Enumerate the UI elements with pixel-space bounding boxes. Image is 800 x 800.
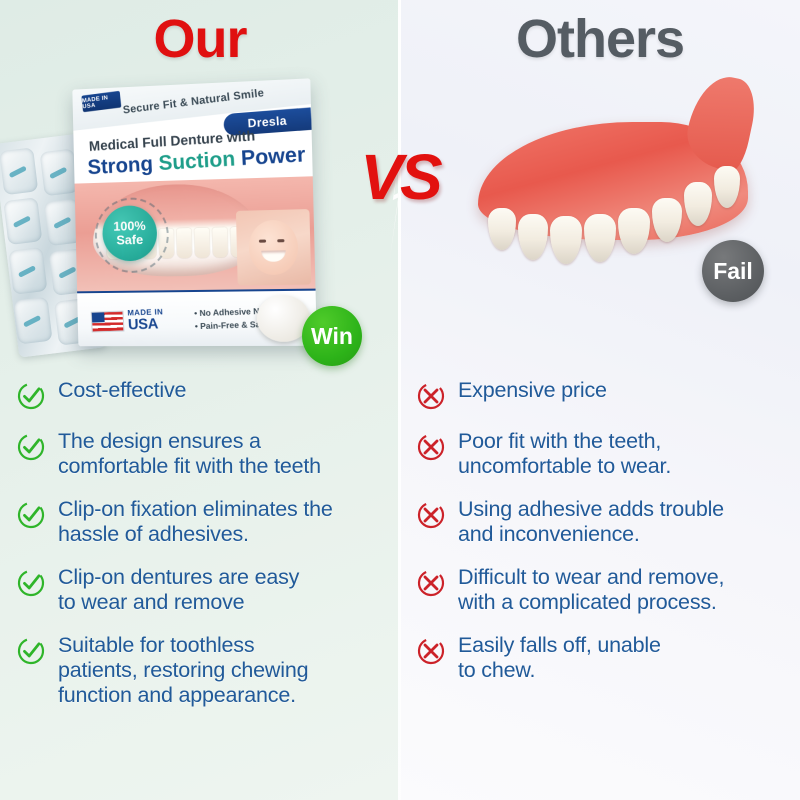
- x-circle-icon: [416, 568, 446, 598]
- list-item: Clip-on fixation eliminates the hassle o…: [0, 497, 400, 547]
- list-item: Easily falls off, unable to chew.: [400, 633, 800, 683]
- us-flag-icon: [91, 311, 125, 333]
- list-item: Expensive price: [400, 378, 800, 411]
- list-item-label: Expensive price: [458, 378, 607, 403]
- list-item-label: Clip-on fixation eliminates the hassle o…: [58, 497, 333, 547]
- competitor-denture-image: [478, 122, 748, 272]
- x-circle-icon: [416, 636, 446, 666]
- list-item-label: Poor fit with the teeth, uncomfortable t…: [458, 429, 671, 479]
- list-item: Suitable for toothless patients, restori…: [0, 633, 400, 708]
- check-circle-icon: [16, 500, 46, 530]
- list-item: The design ensures a comfortable fit wit…: [0, 429, 400, 479]
- list-item-label: Cost-effective: [58, 378, 186, 403]
- panel-divider: [398, 0, 401, 800]
- product-hero-others: [400, 60, 800, 370]
- vs-label: VS: [345, 145, 455, 209]
- list-item-label: Difficult to wear and remove, with a com…: [458, 565, 724, 615]
- face-shape: [248, 220, 298, 276]
- list-item: Poor fit with the teeth, uncomfortable t…: [400, 429, 800, 479]
- x-circle-icon: [416, 381, 446, 411]
- smiling-woman-photo: [236, 209, 311, 285]
- list-item: Cost-effective: [0, 378, 400, 411]
- drawback-list-others: Expensive price Poor fit with the teeth,…: [400, 378, 800, 701]
- list-item: Clip-on dentures are easy to wear and re…: [0, 565, 400, 615]
- fail-badge: Fail: [702, 240, 764, 302]
- list-item: Difficult to wear and remove, with a com…: [400, 565, 800, 615]
- panel-our: Our: [0, 0, 400, 800]
- check-circle-icon: [16, 636, 46, 666]
- box-title-suction: Suction: [158, 147, 236, 175]
- eye-left: [259, 240, 266, 243]
- comparison-infographic: Our: [0, 0, 800, 800]
- list-item-label: Easily falls off, unable to chew.: [458, 633, 661, 683]
- list-item-label: Using adhesive adds trouble and inconven…: [458, 497, 724, 547]
- x-circle-icon: [416, 432, 446, 462]
- eye-right: [277, 239, 284, 242]
- vs-emblem: VS: [345, 135, 455, 255]
- check-circle-icon: [16, 568, 46, 598]
- list-item: Using adhesive adds trouble and inconven…: [400, 497, 800, 547]
- list-item-label: The design ensures a comfortable fit wit…: [58, 429, 321, 479]
- product-box-image: MADE IN USA Secure Fit & Natural Smile D…: [72, 78, 317, 346]
- benefit-list-our: Cost-effective The design ensures a comf…: [0, 378, 400, 725]
- panel-others: Others Expensive price: [400, 0, 800, 800]
- box-title-power: Power: [240, 143, 305, 170]
- safe-badge-word: Safe: [116, 233, 143, 247]
- check-circle-icon: [16, 381, 46, 411]
- check-circle-icon: [16, 432, 46, 462]
- list-item-label: Suitable for toothless patients, restori…: [58, 633, 308, 708]
- made-in-country: USA: [128, 316, 164, 332]
- made-in-usa-badge: MADE IN USA: [91, 308, 164, 333]
- x-circle-icon: [416, 500, 446, 530]
- win-badge: Win: [302, 306, 362, 366]
- box-title-strong: Strong: [87, 153, 154, 180]
- list-item-label: Clip-on dentures are easy to wear and re…: [58, 565, 299, 615]
- box-bottom-face: MADE IN USA • No Adhesive Needed • Pain-…: [77, 289, 317, 347]
